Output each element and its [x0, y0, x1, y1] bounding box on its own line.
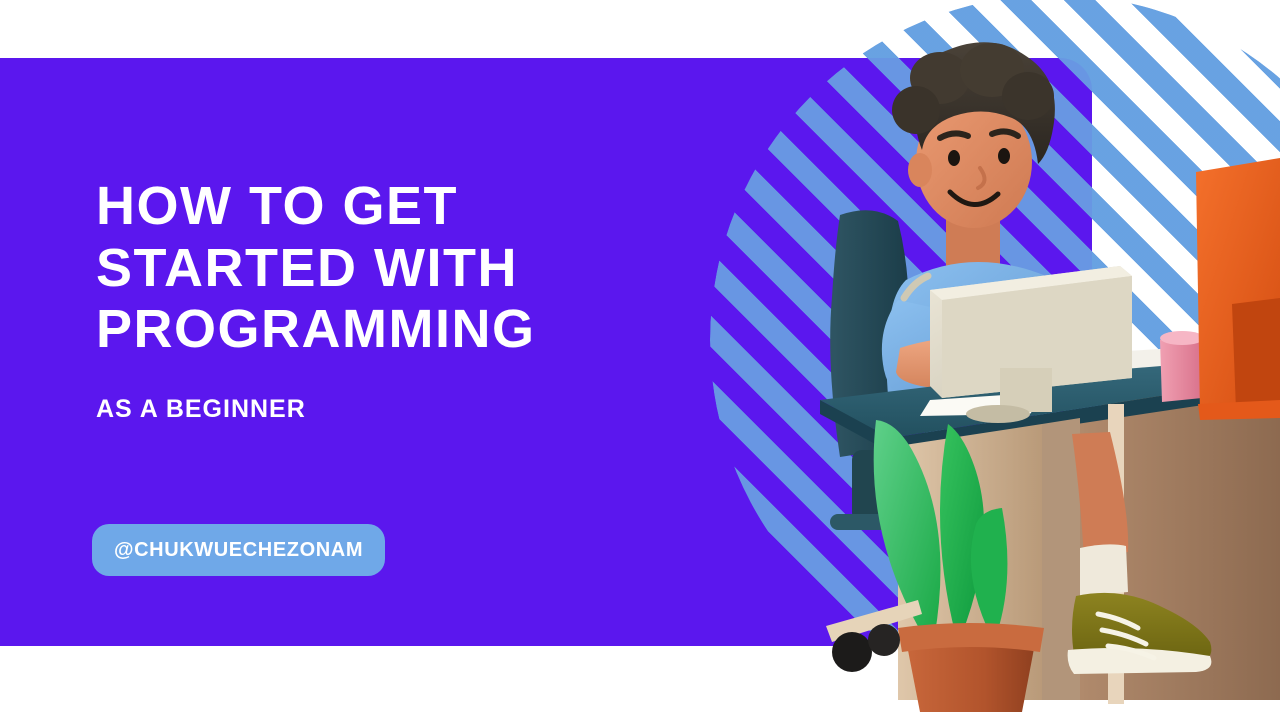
striped-circle-overlay	[710, 0, 1280, 685]
headline-line-1: HOW TO GET	[96, 176, 458, 236]
page-title: HOW TO GET STARTED WITH PROGRAMMING	[96, 176, 716, 361]
headline-block: HOW TO GET STARTED WITH PROGRAMMING	[96, 176, 716, 361]
poster-canvas: HOW TO GET STARTED WITH PROGRAMMING AS A…	[0, 0, 1280, 720]
social-handle-badge[interactable]: @CHUKWUECHEZONAM	[92, 524, 385, 576]
headline-line-3: PROGRAMMING	[96, 299, 535, 359]
headline-line-2: STARTED WITH	[96, 238, 518, 298]
diagonal-stripes-overlay-pattern	[710, 0, 1280, 685]
subtitle: AS A BEGINNER	[96, 395, 306, 424]
